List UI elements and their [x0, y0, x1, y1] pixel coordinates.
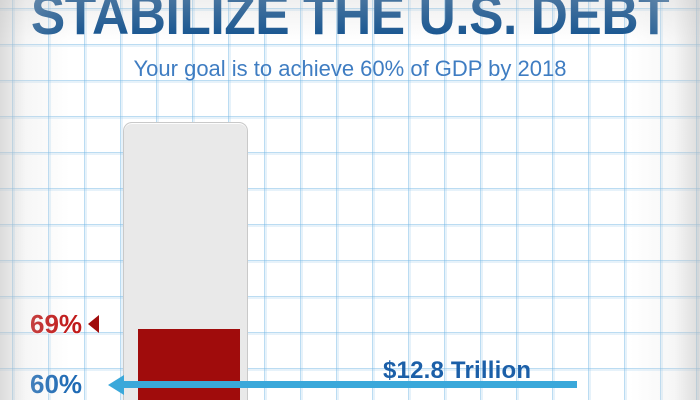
- page-title: STABILIZE THE U.S. DEBT: [28, 0, 672, 44]
- current-debt-label: 69%: [30, 310, 82, 338]
- infographic-canvas: STABILIZE THE U.S. DEBT Your goal is to …: [0, 0, 700, 400]
- goal-debt-label: 60%: [30, 370, 82, 398]
- debt-bar-fill: [138, 329, 240, 400]
- goal-amount-label: $12.8 Trillion: [383, 358, 531, 384]
- current-debt-marker: 69%: [30, 310, 99, 338]
- page-subtitle: Your goal is to achieve 60% of GDP by 20…: [0, 56, 700, 82]
- left-triangle-icon: [88, 315, 99, 333]
